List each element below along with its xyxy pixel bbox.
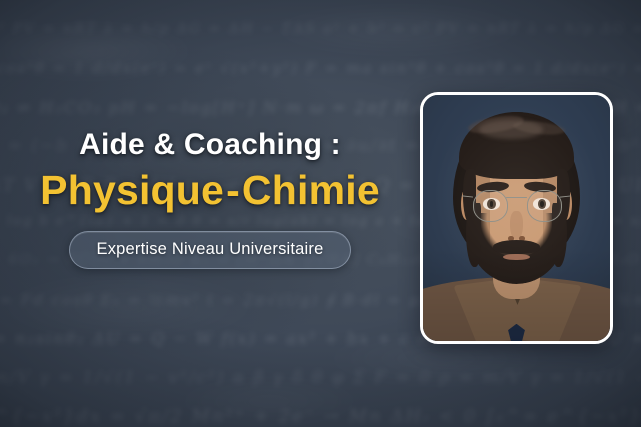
portrait-color-grade [423, 95, 610, 341]
promo-banner: ∫ f(x)dx = F(b) − F(a) E = mc² ∇·E = ρ/ε… [0, 0, 641, 427]
badge-row: Expertise Niveau Universitaire [0, 231, 420, 269]
page-title: Physique-Chimie [0, 168, 420, 213]
status-badge: Expertise Niveau Universitaire [69, 231, 350, 269]
headline-block: Aide & Coaching : Physique-Chimie Expert… [0, 128, 420, 269]
portrait-card [420, 92, 613, 344]
eyebrow-text: Aide & Coaching : [0, 128, 420, 162]
title-subject-chemistry: Chimie [242, 167, 380, 213]
title-separator: - [224, 167, 242, 213]
title-subject-physics: Physique [40, 167, 224, 213]
